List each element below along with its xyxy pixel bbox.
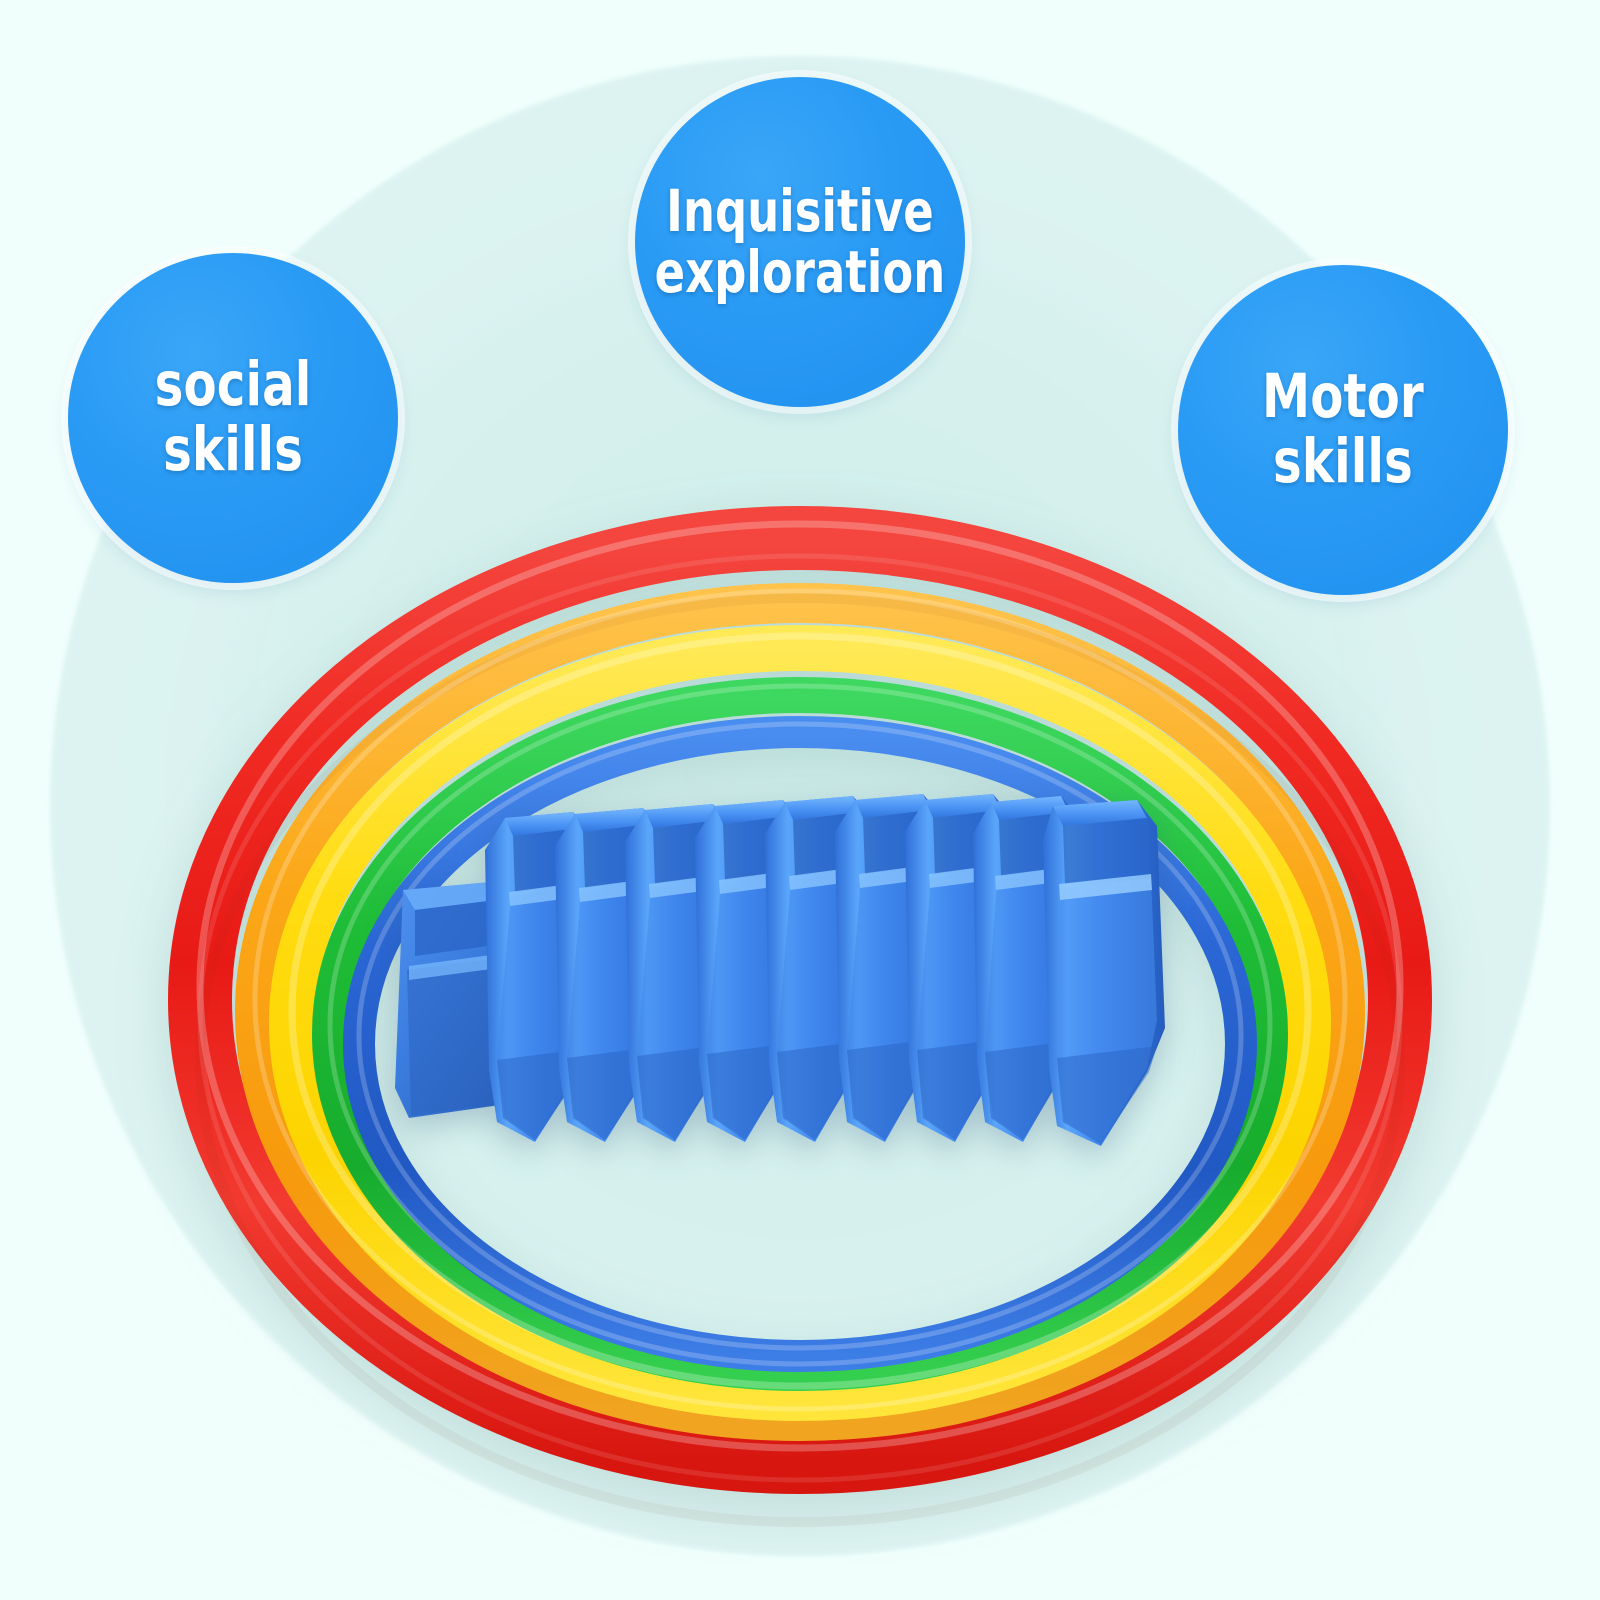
feature-badge-label: Inquisitive exploration [653,181,947,304]
track-piece [1043,800,1165,1146]
blue-track-pieces [385,770,1175,1190]
feature-badge-motor-skills[interactable]: Motor skills [1178,265,1508,595]
product-feature-image: social skills Inquisitive exploration Mo… [0,0,1600,1600]
feature-badge-label: Motor skills [1260,365,1425,494]
feature-badge-label: social skills [153,353,313,482]
feature-badge-social-skills[interactable]: social skills [68,253,398,583]
track-piece-fan [485,794,1165,1146]
feature-badge-inquisitive-exploration[interactable]: Inquisitive exploration [635,77,965,407]
